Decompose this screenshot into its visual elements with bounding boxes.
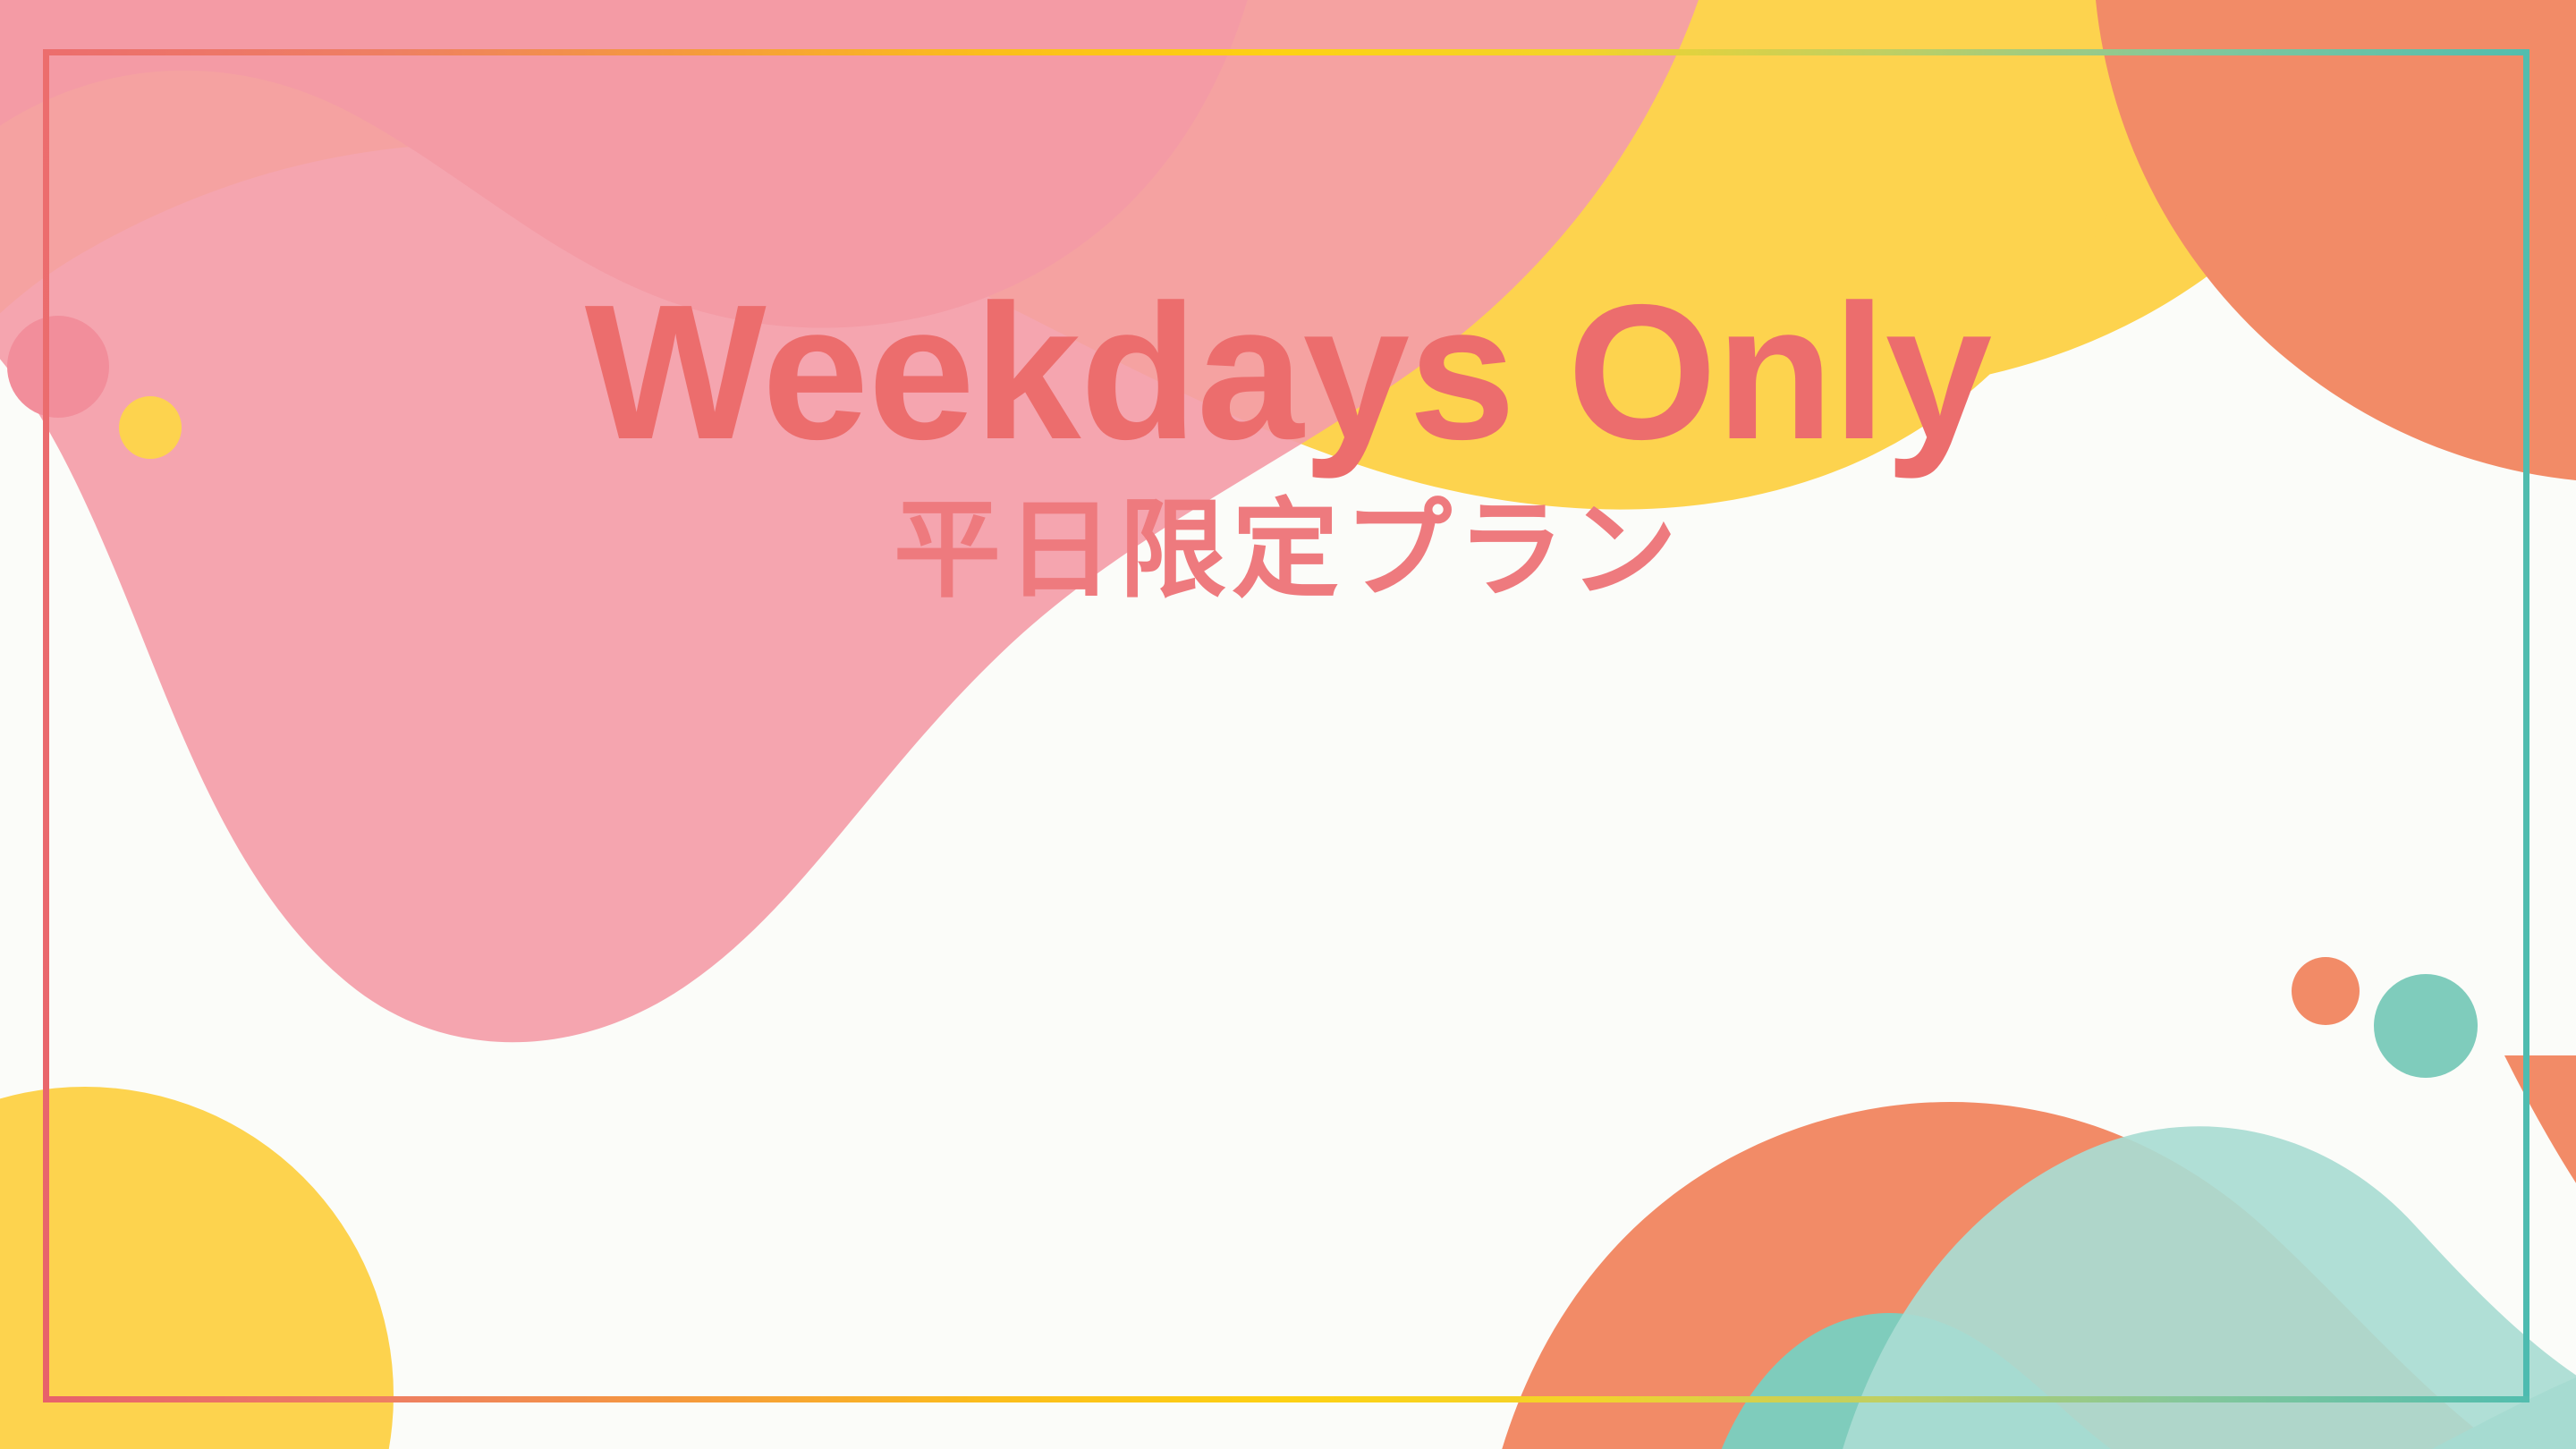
orange-dot-bottom-right: [2292, 957, 2360, 1025]
background-decorations: [0, 0, 2576, 1449]
yellow-circle-large-bottom-left: [0, 1087, 394, 1449]
banner-text-block: Weekdays Only 平日限定プラン: [0, 268, 2576, 610]
orange-stripe-right: [2504, 1055, 2576, 1315]
page-title: Weekdays Only: [0, 268, 2576, 476]
banner-canvas: Weekdays Only 平日限定プラン: [0, 0, 2576, 1449]
page-subtitle: 平日限定プラン: [0, 492, 2576, 610]
teal-dot-bottom-right: [2374, 974, 2478, 1078]
